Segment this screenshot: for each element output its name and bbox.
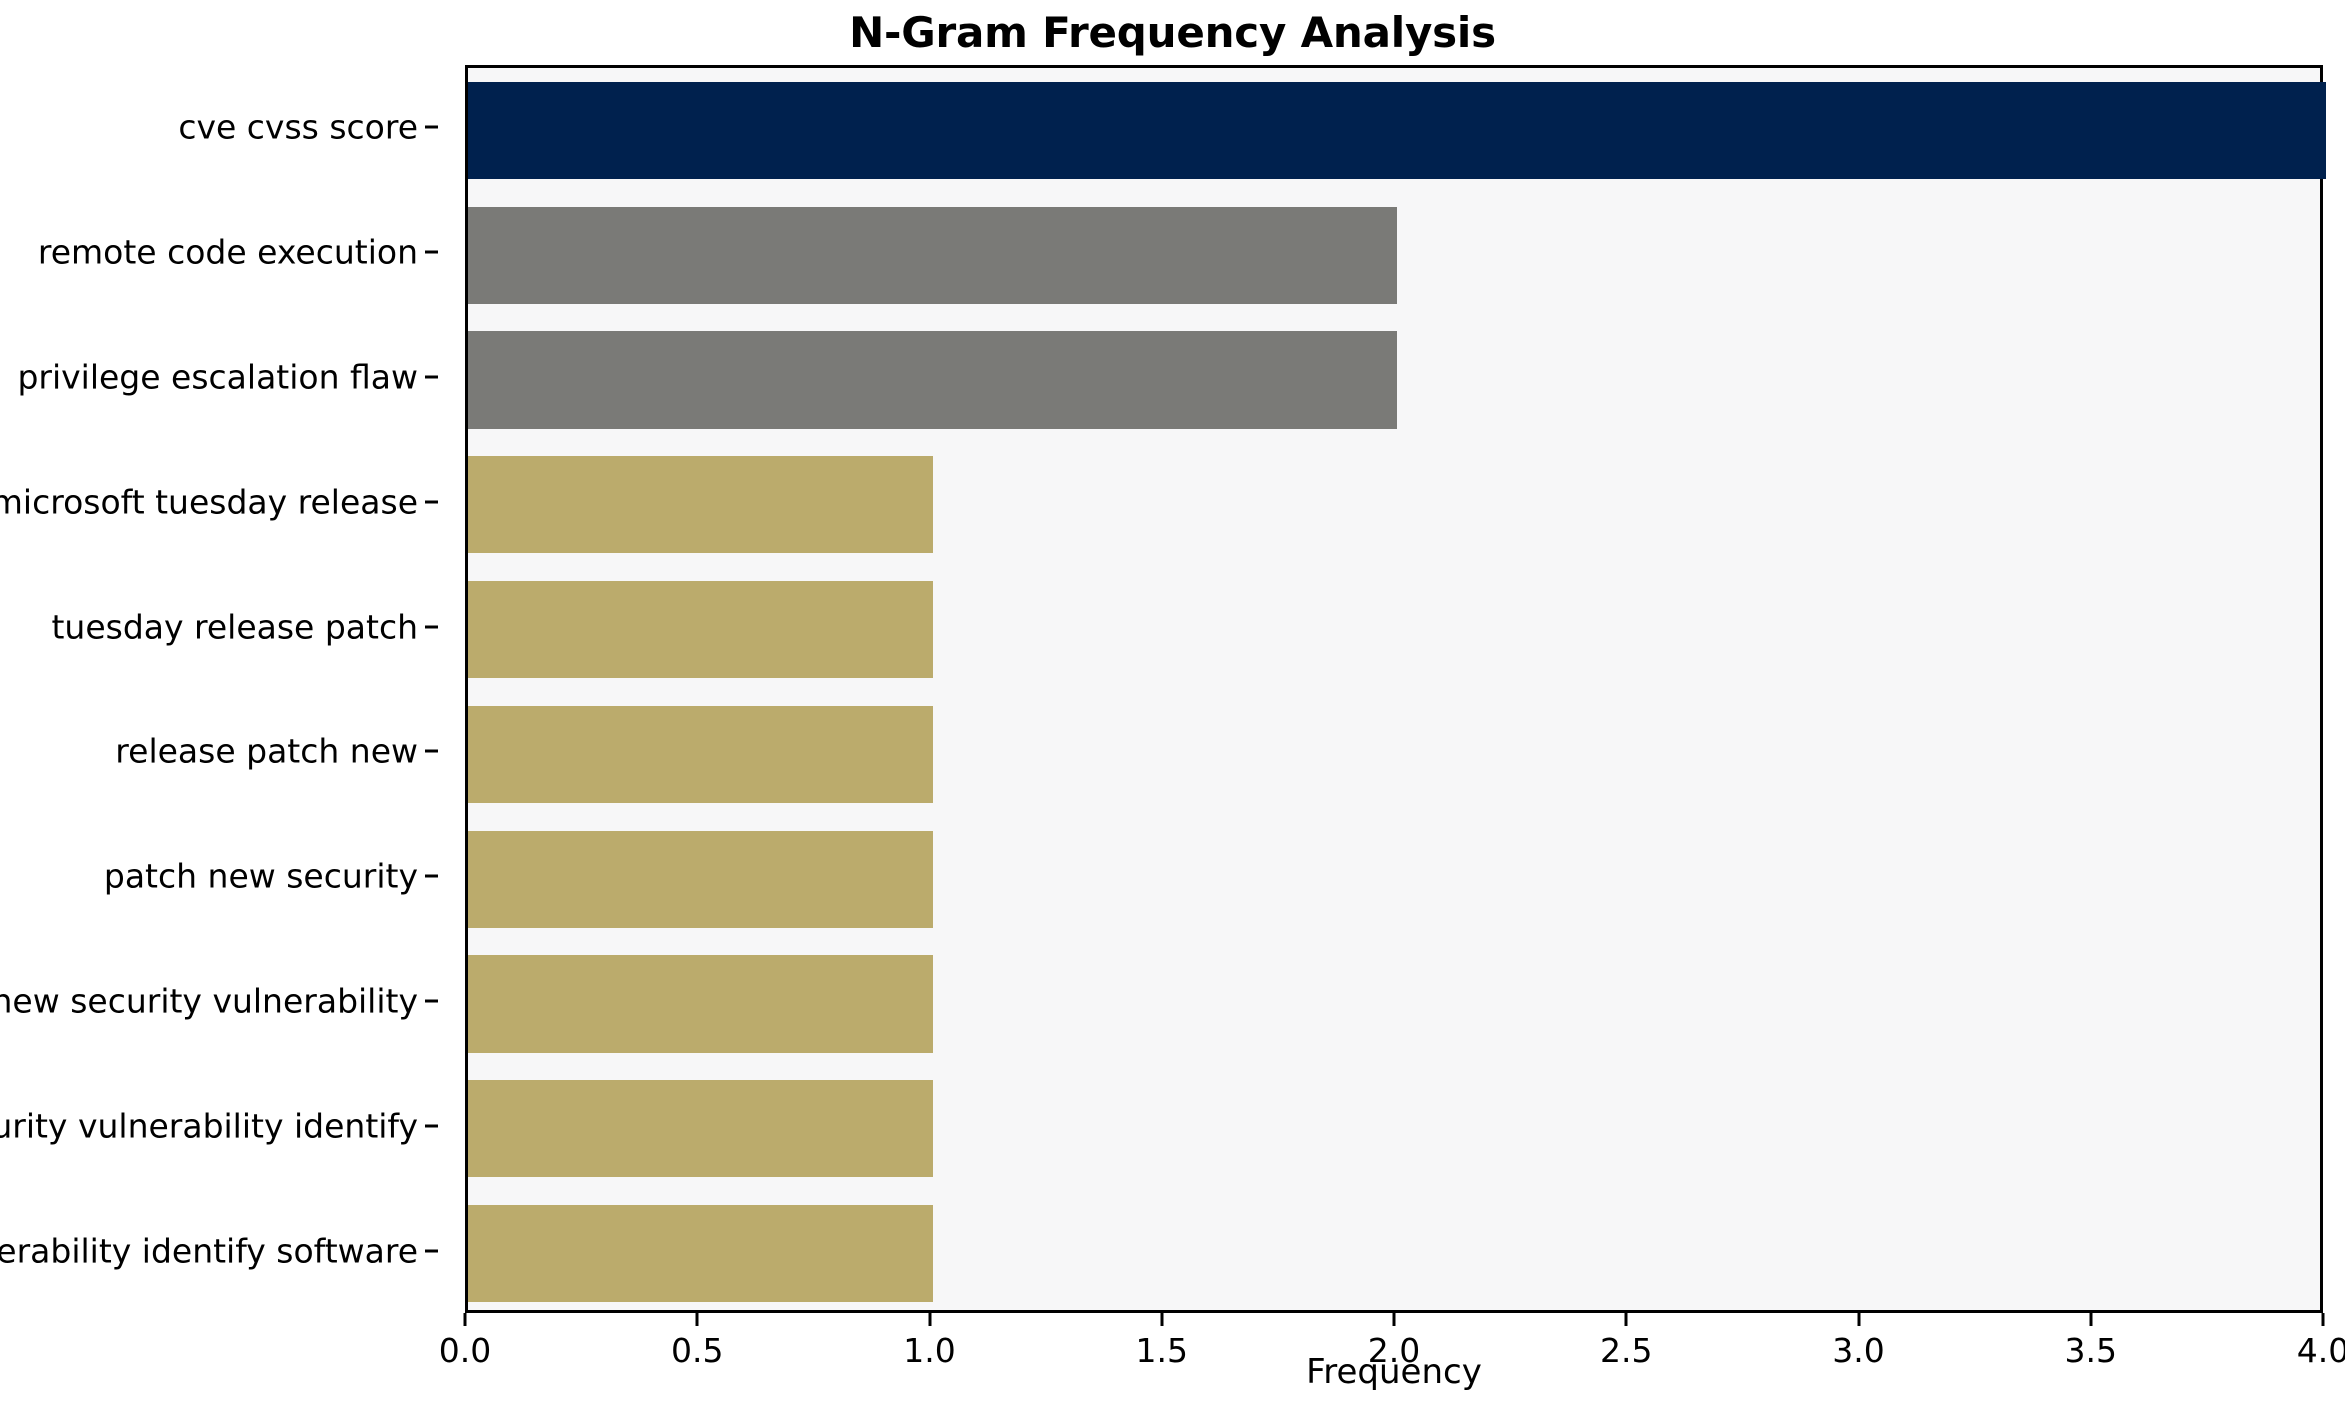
bar — [468, 581, 933, 678]
bar-row — [468, 1080, 2320, 1177]
x-axis-tick-mark — [464, 1313, 467, 1326]
y-axis-tick-label: new security vulnerability — [0, 982, 418, 1021]
bar-row — [468, 955, 2320, 1052]
bar-row — [468, 207, 2320, 304]
bar-row — [468, 331, 2320, 428]
bar-row — [468, 1205, 2320, 1302]
x-axis-tick-mark — [696, 1313, 699, 1326]
bar — [468, 706, 933, 803]
x-axis-tick-mark — [928, 1313, 931, 1326]
y-axis-tick-mark — [425, 1124, 438, 1127]
bar — [468, 82, 2326, 179]
bar-row — [468, 581, 2320, 678]
bar — [468, 207, 1397, 304]
y-axis-tick-mark — [425, 750, 438, 753]
plot-area — [465, 65, 2323, 1313]
bar — [468, 331, 1397, 428]
x-axis-tick-mark — [1160, 1313, 1163, 1326]
y-axis-tick-mark — [425, 376, 438, 379]
x-axis-tick-mark — [1625, 1313, 1628, 1326]
bars-layer — [468, 68, 2320, 1310]
y-axis-tick-label: patch new security — [104, 857, 418, 896]
y-axis-tick-mark — [425, 500, 438, 503]
y-axis-tick-label: release patch new — [115, 732, 418, 771]
y-axis-tick-label: security vulnerability identify — [0, 1106, 418, 1145]
y-axis-tick-labels: cve cvss scoreremote code executionprivi… — [0, 65, 440, 1313]
bar — [468, 1080, 933, 1177]
chart-title: N-Gram Frequency Analysis — [0, 8, 2345, 57]
bar — [468, 1205, 933, 1302]
x-axis-title: Frequency — [465, 1352, 2323, 1392]
x-axis-tick-mark — [1857, 1313, 1860, 1326]
x-axis-tick-mark — [2322, 1313, 2325, 1326]
y-axis-tick-label: privilege escalation flaw — [17, 358, 418, 397]
x-axis-tick-mark — [1393, 1313, 1396, 1326]
y-axis-tick-label: vulnerability identify software — [0, 1231, 418, 1270]
y-axis-tick-mark — [425, 1249, 438, 1252]
y-axis-tick-label: microsoft tuesday release — [0, 482, 418, 521]
bar — [468, 456, 933, 553]
bar-row — [468, 706, 2320, 803]
y-axis-tick-mark — [425, 875, 438, 878]
bar — [468, 831, 933, 928]
x-axis-tick-mark — [2089, 1313, 2092, 1326]
y-axis-tick-label: tuesday release patch — [51, 607, 418, 646]
bar-row — [468, 82, 2320, 179]
y-axis-tick-label: cve cvss score — [178, 108, 418, 147]
bar — [468, 955, 933, 1052]
bar-row — [468, 831, 2320, 928]
chart-figure: N-Gram Frequency Analysis cve cvss score… — [0, 0, 2345, 1414]
y-axis-tick-mark — [425, 1000, 438, 1003]
y-axis-tick-mark — [425, 126, 438, 129]
bar-row — [468, 456, 2320, 553]
y-axis-tick-label: remote code execution — [38, 233, 418, 272]
y-axis-tick-mark — [425, 251, 438, 254]
y-axis-tick-mark — [425, 625, 438, 628]
